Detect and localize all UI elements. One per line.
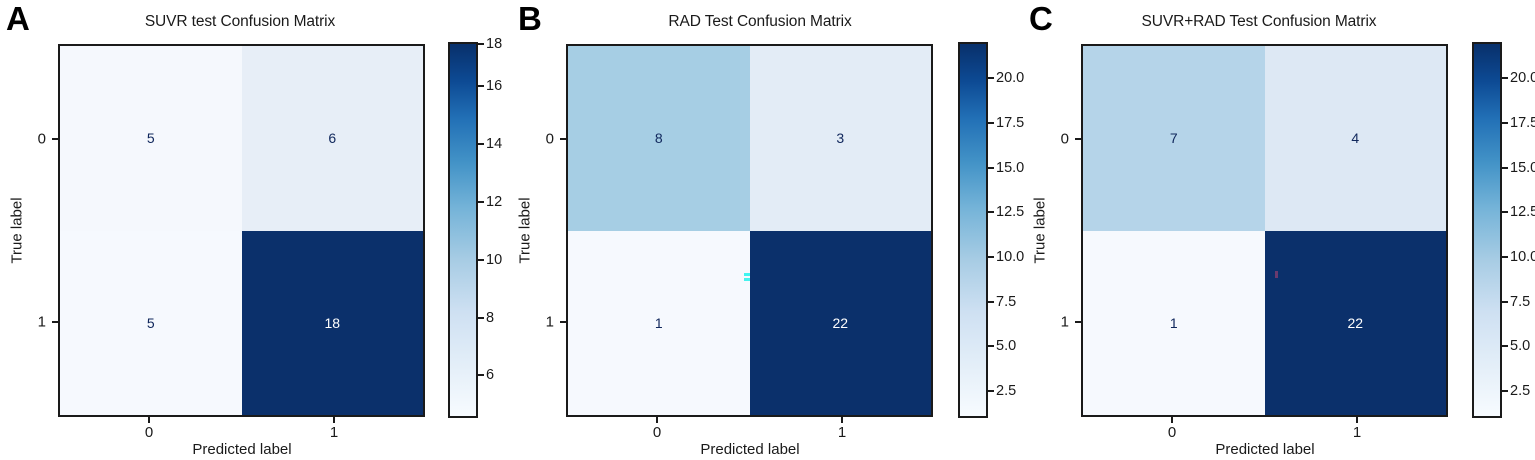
panel-a-ytick-label-1: 1	[22, 314, 46, 331]
panel-b-cbar-tick-label-2: 7.5	[996, 294, 1016, 310]
panel-a-cbar-tick-label-4: 14	[486, 136, 502, 152]
panel-a-cell-grid: 5 6 5 18	[60, 46, 423, 415]
panel-a-heatmap[interactable]: 5 6 5 18	[58, 44, 425, 417]
panel-a-cbar-tick-mark-5	[478, 85, 484, 87]
panel-b-cbar-tick-mark-6	[988, 122, 994, 124]
panel-a-xlabel: Predicted label	[92, 441, 392, 458]
panel-a-ytick-mark-1	[52, 321, 58, 323]
panel-b-cell-0-0[interactable]: 8	[568, 46, 750, 231]
panel-a-cbar-tick-label-3: 12	[486, 194, 502, 210]
panel-a-xtick-label-0: 0	[134, 424, 164, 441]
panel-b-heatmap[interactable]: 8 3 1 22	[566, 44, 933, 417]
panel-b-xtick-label-1: 1	[827, 424, 857, 441]
panel-c-ytick-mark-0	[1075, 138, 1081, 140]
confusion-matrix-figure: A SUVR test Confusion Matrix 5 6 5 18 0	[0, 0, 1535, 460]
panel-c-ytick-mark-1	[1075, 321, 1081, 323]
panel-a-cbar-tick-label-0: 6	[486, 367, 494, 383]
panel-b-ytick-label-0: 0	[530, 131, 554, 148]
panel-b: B RAD Test Confusion Matrix 8 3 1 22	[512, 0, 1024, 460]
panel-b-xtick-label-0: 0	[642, 424, 672, 441]
panel-a-title: SUVR test Confusion Matrix	[50, 13, 430, 31]
panel-b-cell-1-1[interactable]: 22	[750, 231, 932, 416]
panel-c-cbar-tick-label-4: 12.5	[1510, 204, 1535, 220]
panel-c: C SUVR+RAD Test Confusion Matrix 7 4 1 2…	[1023, 0, 1535, 460]
panel-c-cbar-tick-label-5: 15.0	[1510, 160, 1535, 176]
panel-c-xtick-label-0: 0	[1157, 424, 1187, 441]
panel-a-xtick-label-1: 1	[319, 424, 349, 441]
panel-b-cbar-tick-mark-0	[988, 390, 994, 392]
panel-c-cell-value-0-0: 7	[1170, 131, 1178, 145]
panel-a-cell-1-1[interactable]: 18	[242, 231, 424, 416]
panel-c-heatmap[interactable]: 7 4 1 22	[1081, 44, 1448, 417]
panel-b-cbar-tick-label-6: 17.5	[996, 115, 1024, 131]
panel-b-cbar-tick-label-4: 12.5	[996, 204, 1024, 220]
panel-c-cbar-tick-label-1: 5.0	[1510, 338, 1530, 354]
panel-c-xtick-mark-0	[1171, 417, 1173, 423]
panel-a-cell-0-1[interactable]: 6	[242, 46, 424, 231]
panel-c-colorbar[interactable]	[1472, 42, 1502, 418]
panel-c-cell-0-1[interactable]: 4	[1265, 46, 1447, 231]
panel-b-cbar-tick-mark-4	[988, 211, 994, 213]
panel-b-ytick-mark-1	[560, 321, 566, 323]
panel-a-cbar-tick-label-2: 10	[486, 252, 502, 268]
panel-c-cbar-tick-label-0: 2.5	[1510, 383, 1530, 399]
panel-c-cbar-tick-mark-2	[1502, 301, 1508, 303]
panel-a-ytick-label-0: 0	[22, 131, 46, 148]
panel-a-cell-0-0[interactable]: 5	[60, 46, 242, 231]
panel-b-xlabel: Predicted label	[600, 441, 900, 458]
panel-a-cbar-tick-mark-0	[478, 374, 484, 376]
panel-a-cbar-tick-label-5: 16	[486, 78, 502, 94]
panel-c-cbar-tick-mark-1	[1502, 345, 1508, 347]
panel-c-cbar-tick-mark-0	[1502, 390, 1508, 392]
panel-b-cbar-tick-mark-3	[988, 256, 994, 258]
panel-c-cbar-tick-label-7: 20.0	[1510, 70, 1535, 86]
panel-b-cbar-tick-mark-2	[988, 301, 994, 303]
panel-c-cbar-tick-label-2: 7.5	[1510, 294, 1530, 310]
panel-a-cbar-tick-mark-1	[478, 317, 484, 319]
panel-a-colorbar[interactable]	[448, 42, 478, 418]
panel-b-xtick-mark-1	[841, 417, 843, 423]
panel-b-cbar-tick-label-3: 10.0	[996, 249, 1024, 265]
panel-b-ytick-mark-0	[560, 138, 566, 140]
panel-b-cell-value-1-1: 22	[832, 316, 848, 330]
panel-c-cell-value-1-0: 1	[1170, 316, 1178, 330]
panel-c-xtick-mark-1	[1356, 417, 1358, 423]
panel-a-ylabel: True label	[9, 181, 26, 281]
panel-a-cell-value-0-0: 5	[147, 131, 155, 145]
panel-a: A SUVR test Confusion Matrix 5 6 5 18 0	[0, 0, 512, 460]
panel-letter-a: A	[6, 2, 30, 35]
panel-c-cell-1-1[interactable]: 22	[1265, 231, 1447, 416]
panel-letter-c: C	[1029, 2, 1053, 35]
panel-b-cell-value-1-0: 1	[655, 316, 663, 330]
panel-b-cbar-tick-label-0: 2.5	[996, 383, 1016, 399]
panel-c-cell-0-0[interactable]: 7	[1083, 46, 1265, 231]
panel-a-cbar-tick-label-6: 18	[486, 36, 502, 52]
panel-a-cbar-tick-mark-3	[478, 201, 484, 203]
panel-a-cbar-tick-mark-2	[478, 259, 484, 261]
panel-b-colorbar[interactable]	[958, 42, 988, 418]
panel-c-cbar-tick-label-3: 10.0	[1510, 249, 1535, 265]
panel-b-cell-value-0-1: 3	[836, 131, 844, 145]
panel-c-cell-1-0[interactable]: 1	[1083, 231, 1265, 416]
panel-a-cbar-tick-label-1: 8	[486, 310, 494, 326]
panel-c-ytick-label-1: 1	[1045, 314, 1069, 331]
panel-letter-b: B	[518, 2, 542, 35]
panel-c-cbar-tick-mark-7	[1502, 77, 1508, 79]
panel-a-xtick-mark-0	[148, 417, 150, 423]
panel-b-ylabel: True label	[517, 181, 534, 281]
panel-c-cbar-tick-mark-3	[1502, 256, 1508, 258]
panel-b-cbar-tick-label-7: 20.0	[996, 70, 1024, 86]
panel-c-cbar-tick-mark-4	[1502, 211, 1508, 213]
panel-b-cbar-tick-mark-5	[988, 167, 994, 169]
panel-b-cbar-tick-mark-1	[988, 345, 994, 347]
panel-c-xlabel: Predicted label	[1115, 441, 1415, 458]
panel-a-cell-value-1-0: 5	[147, 316, 155, 330]
panel-b-cell-value-0-0: 8	[655, 131, 663, 145]
panel-a-cbar-tick-mark-4	[478, 143, 484, 145]
panel-c-cell-value-1-1: 22	[1347, 316, 1363, 330]
panel-c-title: SUVR+RAD Test Confusion Matrix	[1069, 13, 1449, 31]
panel-c-xtick-label-1: 1	[1342, 424, 1372, 441]
panel-b-cell-grid: 8 3 1 22	[568, 46, 931, 415]
panel-c-cell-grid: 7 4 1 22	[1083, 46, 1446, 415]
panel-b-cell-0-1[interactable]: 3	[750, 46, 932, 231]
panel-b-title: RAD Test Confusion Matrix	[570, 13, 950, 31]
panel-b-cbar-tick-label-1: 5.0	[996, 338, 1016, 354]
render-artifact-speck	[1275, 271, 1278, 278]
panel-a-xtick-mark-1	[333, 417, 335, 423]
panel-a-cbar-tick-mark-6	[478, 43, 484, 45]
panel-a-cell-1-0[interactable]: 5	[60, 231, 242, 416]
panel-c-cbar-tick-label-6: 17.5	[1510, 115, 1535, 131]
panel-a-cell-value-0-1: 6	[328, 131, 336, 145]
panel-c-ytick-label-0: 0	[1045, 131, 1069, 148]
panel-a-cell-value-1-1: 18	[324, 316, 340, 330]
panel-b-ytick-label-1: 1	[530, 314, 554, 331]
panel-b-cell-1-0[interactable]: 1	[568, 231, 750, 416]
panel-b-cbar-tick-label-5: 15.0	[996, 160, 1024, 176]
panel-b-cbar-tick-mark-7	[988, 77, 994, 79]
panel-c-cbar-tick-mark-5	[1502, 167, 1508, 169]
panel-c-cell-value-0-1: 4	[1351, 131, 1359, 145]
panel-c-cbar-tick-mark-6	[1502, 122, 1508, 124]
panel-a-ytick-mark-0	[52, 138, 58, 140]
panel-c-ylabel: True label	[1032, 181, 1049, 281]
panel-b-xtick-mark-0	[656, 417, 658, 423]
